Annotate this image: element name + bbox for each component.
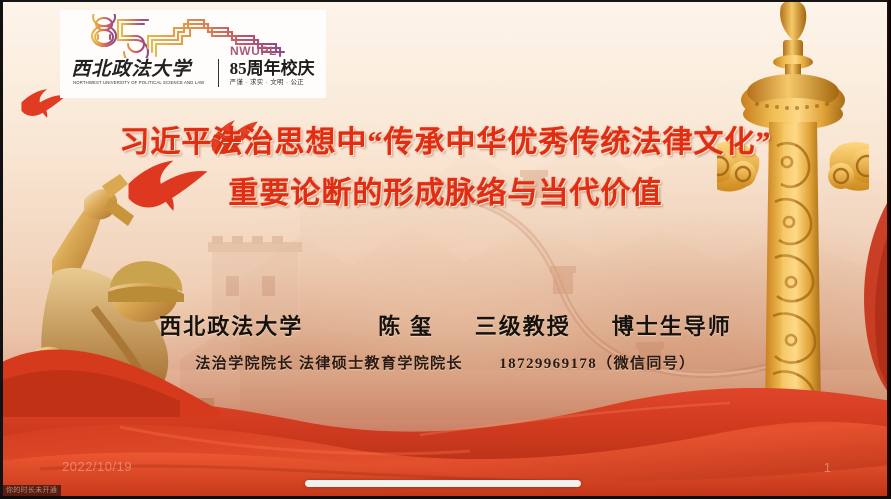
title-line-1: 习近平法治思想中“传承中华优秀传统法律文化” bbox=[0, 128, 891, 158]
title-line-2: 重要论断的形成脉络与当代价值 bbox=[0, 179, 891, 209]
university-name-en: NORTHWEST UNIVERSITY OF POLITICAL SCIENC… bbox=[73, 81, 204, 85]
progress-scrollbar-thumb[interactable] bbox=[305, 480, 581, 487]
watermark-badge: 你的时长未开通 bbox=[2, 485, 61, 496]
svg-text:NWUPL: NWUPL bbox=[230, 44, 277, 58]
frame-edge-right bbox=[887, 0, 891, 499]
speaker-rank: 三级教授 bbox=[475, 309, 571, 341]
university-name-block: 西北政法大学 NORTHWEST UNIVERSITY OF POLITICAL… bbox=[71, 60, 206, 85]
date-stamp: 2022/10/19 bbox=[62, 459, 132, 474]
logo-wordmark-row: 西北政法大学 NORTHWEST UNIVERSITY OF POLITICAL… bbox=[71, 59, 314, 87]
speaker-advisor-title: 博士生导师 bbox=[612, 309, 732, 341]
speaker-subinfo-line: 法治学院院长 法律硕士教育学院院长 18729969178（微信同号） bbox=[0, 352, 891, 373]
anniversary-label: 85周年校庆 bbox=[230, 60, 315, 77]
university-name-cn: 西北政法大学 bbox=[71, 60, 206, 79]
anniversary-85-logo: NWUPL bbox=[78, 14, 308, 58]
university-logo-box: NWUPL 西北政法大学 NORTHWEST UNIVERSITY OF POL… bbox=[60, 10, 326, 98]
logo-divider bbox=[218, 59, 219, 87]
speaker-info-line: 西北政法大学 陈 玺 三级教授 博士生导师 bbox=[0, 309, 891, 341]
slide-title: 习近平法治思想中“传承中华优秀传统法律文化” 重要论断的形成脉络与当代价值 bbox=[0, 128, 891, 209]
anniversary-block: 85周年校庆 严谨 · 求实 · 文明 · 公正 bbox=[230, 60, 315, 87]
progress-scrollbar-track[interactable] bbox=[305, 480, 581, 487]
presentation-slide: NWUPL 西北政法大学 NORTHWEST UNIVERSITY OF POL… bbox=[0, 0, 891, 499]
speaker-roles: 法治学院院长 法律硕士教育学院院长 bbox=[195, 356, 463, 372]
frame-edge-top bbox=[0, 0, 891, 2]
anniversary-85-graphic: NWUPL bbox=[78, 14, 308, 58]
university-motto: 严谨 · 求实 · 文明 · 公正 bbox=[230, 80, 315, 87]
frame-edge-left bbox=[0, 0, 3, 499]
speaker-name: 陈 玺 bbox=[378, 309, 434, 341]
speaker-affiliation: 西北政法大学 bbox=[159, 309, 303, 341]
speaker-phone: 18729969178（微信同号） bbox=[499, 356, 695, 372]
page-number: 1 bbox=[824, 460, 831, 475]
